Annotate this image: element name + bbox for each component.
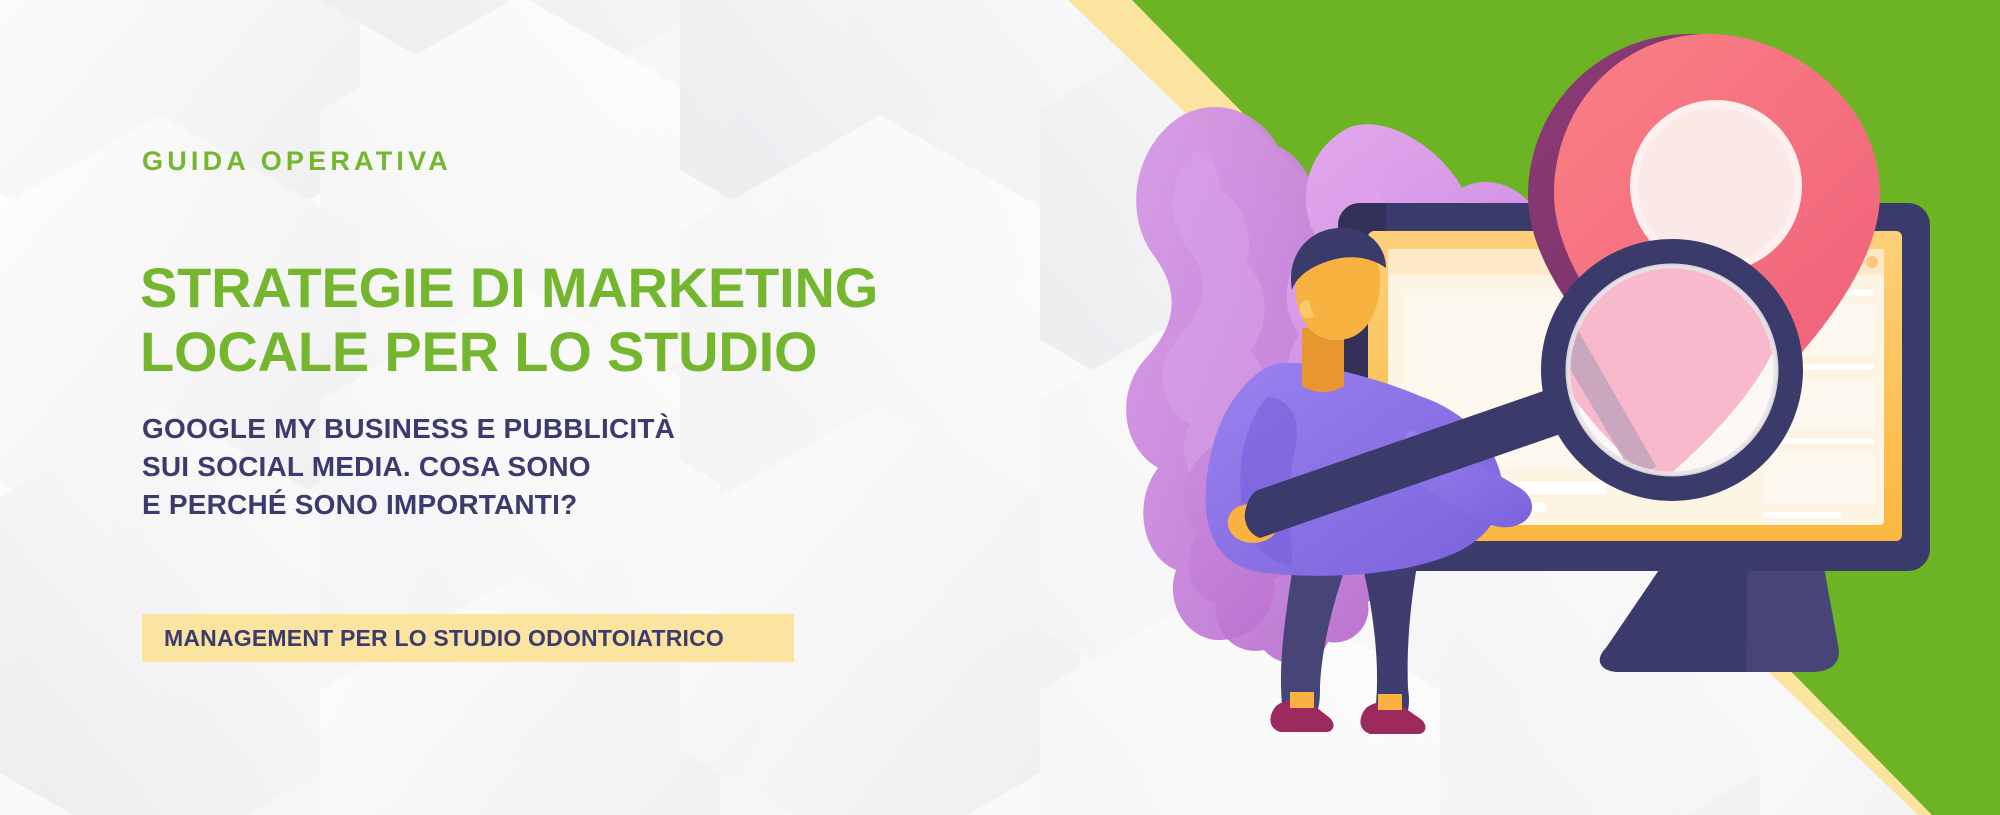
category-badge: MANAGEMENT PER LO STUDIO ODONTOIATRICO <box>142 614 794 662</box>
person-ankle-front <box>1378 694 1402 710</box>
headline-line-1: STRATEGIE DI MARKETING <box>140 256 878 320</box>
headline-line-2: LOCALE PER LO STUDIO <box>140 320 878 384</box>
browser-dot-2 <box>1866 256 1878 268</box>
hero-illustration <box>1080 0 2000 815</box>
text-column: GUIDA OPERATIVA STRATEGIE DI MARKETING L… <box>0 0 900 815</box>
subtitle-line-3: E PERCHÉ SONO IMPORTANTI? <box>142 486 675 524</box>
subtitle-line-1: GOOGLE MY BUSINESS E PUBBLICITÀ <box>142 410 675 448</box>
promo-banner: GUIDA OPERATIVA STRATEGIE DI MARKETING L… <box>0 0 2000 815</box>
subtitle: GOOGLE MY BUSINESS E PUBBLICITÀ SUI SOCI… <box>142 410 675 524</box>
subtitle-line-2: SUI SOCIAL MEDIA. COSA SONO <box>142 448 675 486</box>
page-title: STRATEGIE DI MARKETING LOCALE PER LO STU… <box>140 256 878 384</box>
person-ankle-back <box>1290 692 1314 708</box>
category-badge-label: MANAGEMENT PER LO STUDIO ODONTOIATRICO <box>164 627 724 650</box>
eyebrow-label: GUIDA OPERATIVA <box>142 148 452 175</box>
